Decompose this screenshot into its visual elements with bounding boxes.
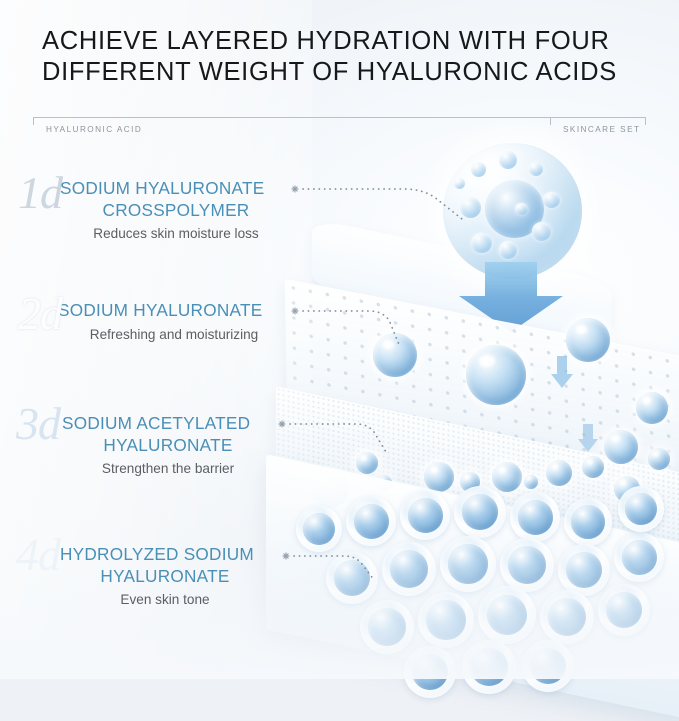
item-title-4-line2: HYALURONATE (60, 566, 270, 588)
item-number-4: 4d (16, 532, 60, 578)
item-title-1-line1: SODIUM HYALURONATE (60, 178, 264, 198)
sparkle-marker (292, 308, 298, 314)
title-line-1: ACHIEVE LAYERED HYDRATION WITH FOUR (42, 26, 642, 57)
ingredient-item-4: 4d HYDROLYZED SODIUM HYALURONATE Even sk… (60, 544, 270, 609)
item-title-4-line1: HYDROLYZED SODIUM (60, 544, 254, 564)
item-title-3-line1: SODIUM ACETYLATED (62, 413, 250, 433)
sparkle-marker (279, 421, 285, 427)
ingredient-item-1: 1d SODIUM HYALURONATE CROSSPOLYMER Reduc… (60, 178, 292, 243)
ingredient-item-2: 2d SODIUM HYALURONATE Refreshing and moi… (58, 300, 290, 344)
item-title-2: SODIUM HYALURONATE (58, 300, 290, 322)
leader-3 (279, 421, 386, 452)
sparkle-marker (292, 186, 298, 192)
leader-4 (283, 553, 374, 580)
item-title-4: HYDROLYZED SODIUM HYALURONATE (60, 544, 270, 587)
title-line-2: DIFFERENT WEIGHT OF HYALURONIC ACIDS (42, 57, 642, 88)
item-subtitle-3: Strengthen the barrier (62, 459, 274, 478)
item-number-2: 2d (18, 291, 62, 337)
item-title-2-line1: SODIUM HYALURONATE (58, 300, 262, 320)
item-title-1: SODIUM HYALURONATE CROSSPOLYMER (60, 178, 292, 221)
sparkle-marker (283, 553, 289, 559)
item-number-1: 1d (18, 170, 62, 216)
leader-2 (292, 308, 400, 347)
rule-bar (33, 117, 646, 118)
rule-label-right: SKINCARE SET (563, 125, 640, 134)
rule-label-left: HYALURONIC ACID (46, 125, 142, 134)
item-subtitle-2: Refreshing and moisturizing (58, 325, 290, 344)
item-number-3: 3d (16, 401, 60, 447)
ingredient-item-3: 3d SODIUM ACETYLATED HYALURONATE Strengt… (62, 413, 274, 478)
rule-tick-left (33, 117, 34, 125)
page-title: ACHIEVE LAYERED HYDRATION WITH FOUR DIFF… (42, 26, 642, 88)
rule-tick-right (645, 117, 646, 125)
item-subtitle-4: Even skin tone (60, 590, 270, 609)
leader-1 (292, 186, 462, 219)
item-title-1-line2: CROSSPOLYMER (60, 200, 292, 222)
item-title-3-line2: HYALURONATE (62, 435, 274, 457)
bracket-rule: HYALURONIC ACID SKINCARE SET (33, 117, 646, 143)
item-subtitle-1: Reduces skin moisture loss (60, 224, 292, 243)
item-title-3: SODIUM ACETYLATED HYALURONATE (62, 413, 274, 456)
rule-tick-mid (550, 117, 551, 125)
